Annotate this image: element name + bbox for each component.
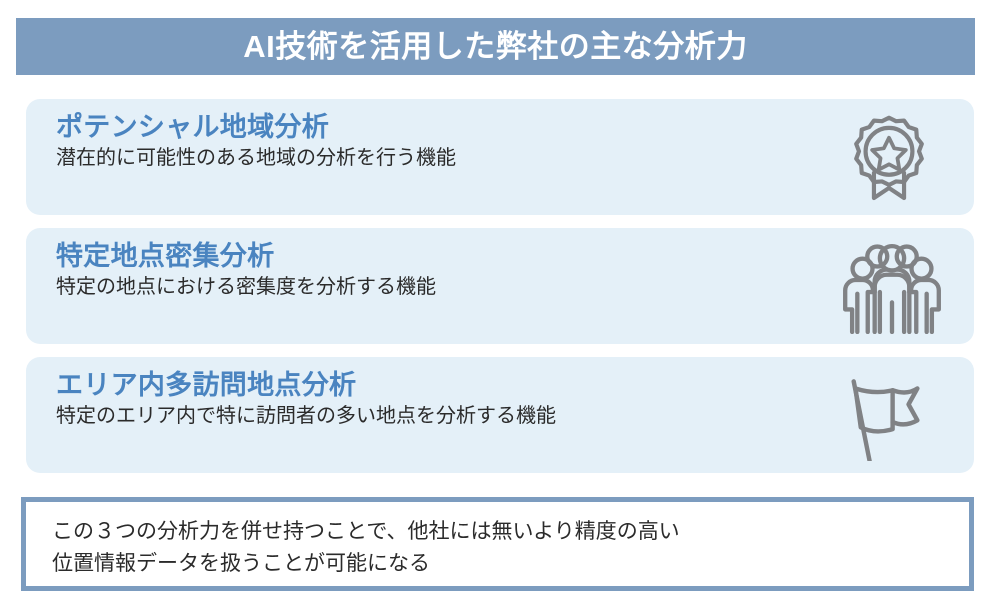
summary-callout-box: この３つの分析力を併せ持つことで、他社には無いより精度の高い 位置情報データを扱… — [21, 497, 974, 591]
page-title: AI技術を活用した弊社の主な分析力 — [243, 31, 748, 62]
feature-card-text: ポテンシャル地域分析 潜在的に可能性のある地域の分析を行う機能 — [56, 111, 974, 171]
feature-card-description: 潜在的に可能性のある地域の分析を行う機能 — [56, 146, 974, 171]
feature-card-title: エリア内多訪問地点分析 — [56, 369, 974, 402]
feature-card-list: ポテンシャル地域分析 潜在的に可能性のある地域の分析を行う機能 特定地点密集分析… — [26, 99, 974, 486]
page-header-band: AI技術を活用した弊社の主な分析力 — [16, 18, 975, 75]
feature-card-text: エリア内多訪問地点分析 特定のエリア内で特に訪問者の多い地点を分析する機能 — [56, 369, 974, 429]
feature-card-title: 特定地点密集分析 — [56, 240, 974, 273]
feature-card-description: 特定のエリア内で特に訪問者の多い地点を分析する機能 — [56, 404, 974, 429]
feature-card-text: 特定地点密集分析 特定の地点における密集度を分析する機能 — [56, 240, 974, 300]
feature-card-description: 特定の地点における密集度を分析する機能 — [56, 275, 974, 300]
feature-card-title: ポテンシャル地域分析 — [56, 111, 974, 144]
feature-card-frequent-visit-points[interactable]: エリア内多訪問地点分析 特定のエリア内で特に訪問者の多い地点を分析する機能 — [26, 357, 974, 473]
summary-callout-text: この３つの分析力を併せ持つことで、他社には無いより精度の高い 位置情報データを扱… — [26, 502, 969, 579]
feature-card-potential-area[interactable]: ポテンシャル地域分析 潜在的に可能性のある地域の分析を行う機能 — [26, 99, 974, 215]
feature-card-point-density[interactable]: 特定地点密集分析 特定の地点における密集度を分析する機能 — [26, 228, 974, 344]
